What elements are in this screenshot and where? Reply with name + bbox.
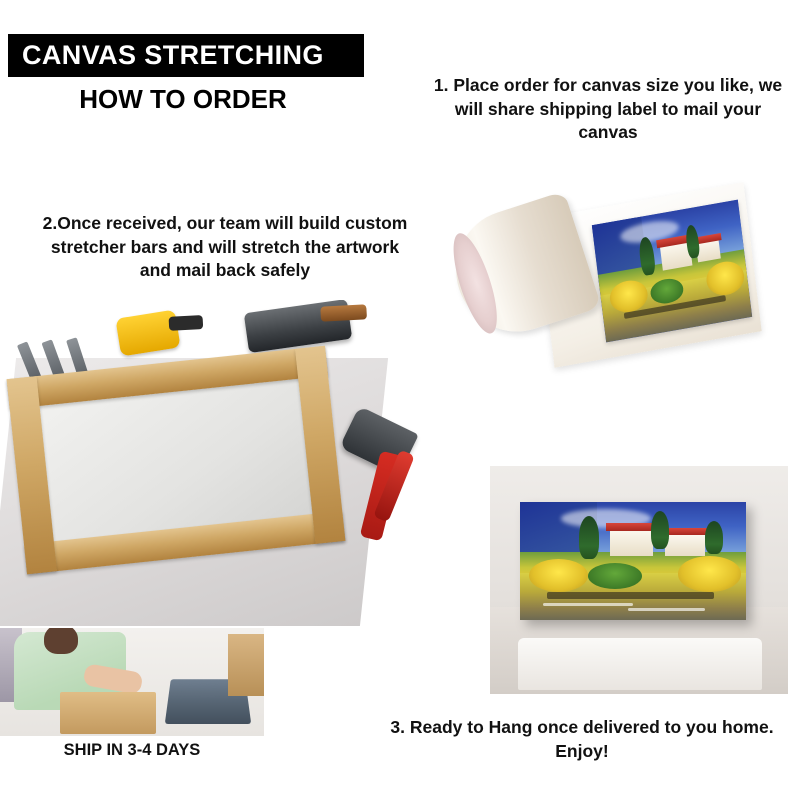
shipping-box: [60, 692, 156, 734]
hung-artwork: [520, 502, 746, 620]
worker-head: [44, 628, 78, 654]
painting-cypress-a: [579, 516, 599, 558]
secondary-box: [228, 634, 264, 696]
painting-roof-left: [606, 523, 658, 531]
stretcher-frame-build-photo: [0, 300, 438, 626]
painting-yellow-bush-a: [529, 559, 588, 592]
stretcher-frame: [7, 346, 346, 574]
painting-cypress-b: [651, 511, 669, 549]
painting-cypress-c: [705, 521, 723, 554]
painting-highlight-b: [628, 608, 705, 611]
page-subtitle: HOW TO ORDER: [24, 85, 342, 114]
painting-house-right: [665, 533, 706, 557]
packing-shipping-photo: [0, 628, 264, 736]
tape-measure-tool: [115, 310, 180, 357]
painting-house-left: [610, 528, 653, 556]
staple-gun-tool: [244, 300, 353, 353]
step-1-text: 1. Place order for canvas size you like,…: [432, 74, 784, 145]
painting-yellow-bush-b: [678, 556, 741, 591]
sofa: [518, 638, 762, 690]
header-block: CANVAS STRETCHING HOW TO ORDER: [8, 34, 378, 114]
rolled-canvas-photo: [448, 176, 788, 376]
hung-canvas-on-wall-photo: [490, 466, 788, 694]
shipping-note: SHIP IN 3-4 DAYS: [0, 741, 264, 760]
step-2-text: 2.Once received, our team will build cus…: [40, 212, 410, 283]
page-title: CANVAS STRETCHING: [8, 34, 364, 77]
painting-wall-strokes: [547, 592, 714, 599]
step-3-text: 3. Ready to Hang once delivered to you h…: [382, 716, 782, 763]
